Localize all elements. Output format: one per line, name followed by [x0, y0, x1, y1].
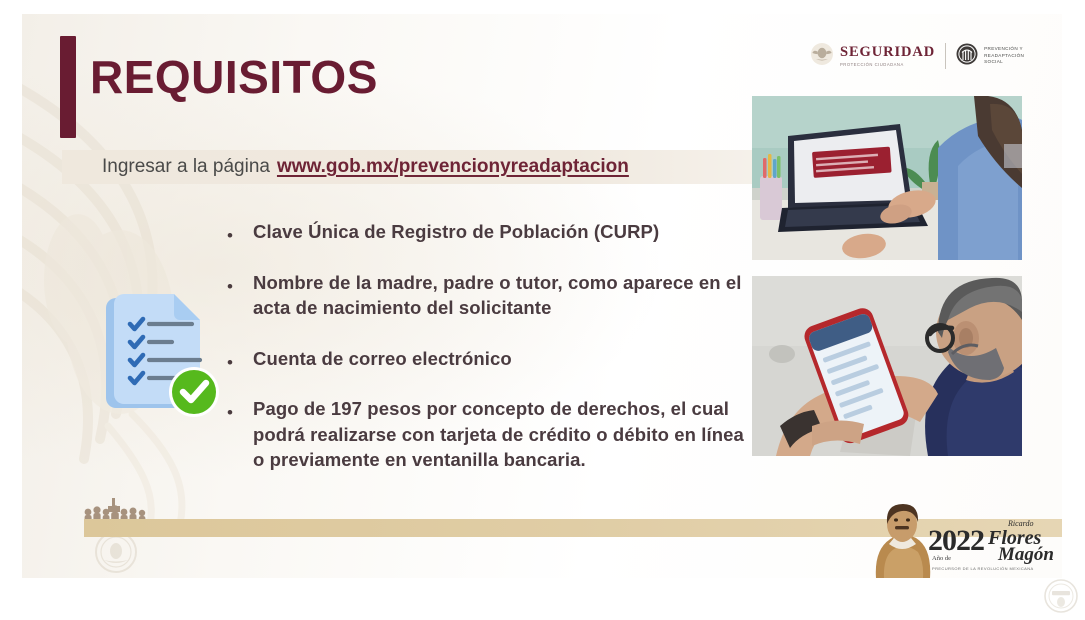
seguridad-logo: SEGURIDAD PROTECCIÓN CIUDADANA [810, 42, 935, 71]
page-title: REQUISITOS [90, 54, 378, 100]
list-item-label: Clave Única de Registro de Población (CU… [253, 219, 659, 245]
list-item: • Pago de 197 pesos por concepto de dere… [227, 396, 757, 473]
prison-gate-seal-icon [956, 43, 978, 70]
list-item: • Clave Única de Registro de Población (… [227, 219, 757, 245]
list-item-label: Nombre de la madre, padre o tutor, como … [253, 270, 757, 321]
svg-text:2022: 2022 [928, 524, 984, 557]
presentation-slide: REQUISITOS Ingresar a la página www.gob.… [22, 14, 1062, 578]
seguridad-logo-subtitle: PROTECCIÓN CIUDADANA [840, 62, 935, 67]
seguridad-logo-name: SEGURIDAD [840, 45, 935, 60]
photo-man-phone [752, 276, 1022, 456]
flores-magon-logo: 2022 Año de Ricardo Flores Magón PRECURS… [870, 502, 1062, 578]
subtitle-lead: Ingresar a la página [102, 156, 270, 178]
bullet-marker: • [227, 270, 253, 295]
website-link[interactable]: www.gob.mx/prevencionyreadaptacion [277, 156, 629, 178]
corner-circular-watermark [1043, 578, 1079, 614]
prevencion-logo: PREVENCIÓN Y READAPTACIÓN SOCIAL [956, 43, 1024, 70]
prevencion-line-3: SOCIAL [984, 59, 1024, 66]
prevencion-line-2: READAPTACIÓN [984, 53, 1024, 60]
subtitle: Ingresar a la página www.gob.mx/prevenci… [102, 154, 629, 180]
list-item: • Nombre de la madre, padre o tutor, com… [227, 270, 757, 321]
header-logos: SEGURIDAD PROTECCIÓN CIUDADANA [810, 36, 1050, 76]
checklist-document-icon [84, 280, 232, 428]
prevencion-line-1: PREVENCIÓN Y [984, 46, 1024, 53]
svg-text:Magón: Magón [997, 544, 1054, 565]
svg-text:Año de: Año de [932, 555, 951, 562]
svg-text:PRECURSOR DE LA REVOLUCIÓN MEX: PRECURSOR DE LA REVOLUCIÓN MEXICANA [932, 566, 1034, 571]
requirements-list: • Clave Única de Registro de Población (… [227, 219, 757, 498]
logo-divider [945, 43, 946, 69]
photo-woman-laptop [752, 96, 1022, 260]
list-item: • Cuenta de correo electrónico [227, 346, 757, 372]
list-item-label: Cuenta de correo electrónico [253, 346, 512, 372]
accent-bar [60, 36, 76, 138]
bullet-marker: • [227, 346, 253, 371]
bullet-marker: • [227, 396, 253, 421]
mexican-eagle-seal-icon [810, 42, 834, 71]
list-item-label: Pago de 197 pesos por concepto de derech… [253, 396, 757, 473]
bullet-marker: • [227, 219, 253, 244]
ricardo-flores-magon-portrait-icon [876, 504, 930, 578]
